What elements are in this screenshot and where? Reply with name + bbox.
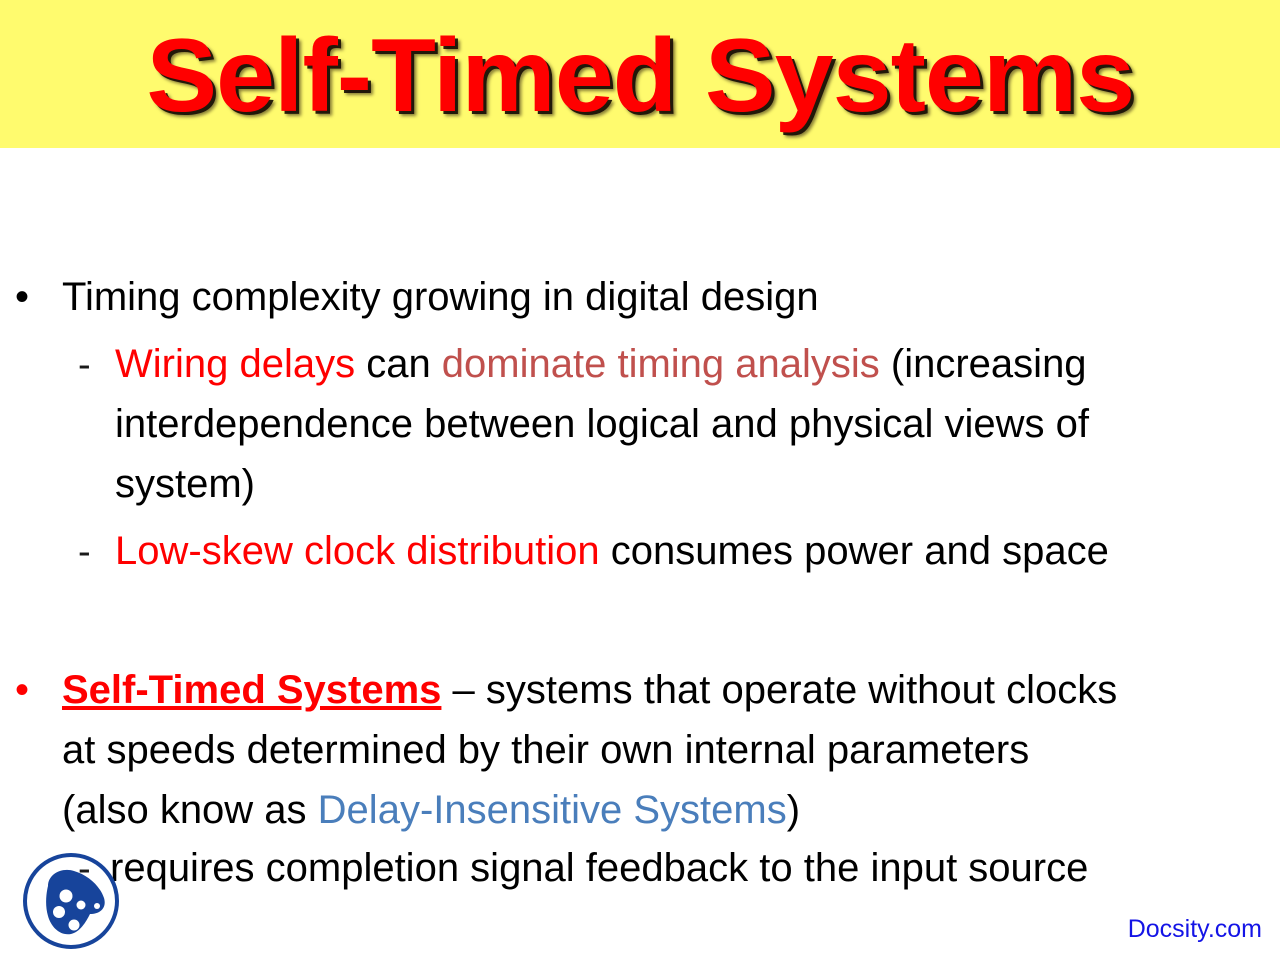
- bullet-2-line-1: Self-Timed Systems – systems that operat…: [62, 670, 1117, 710]
- slide-body: • Timing complexity growing in digital d…: [0, 148, 1280, 960]
- low-skew-clock-emphasis: Low-skew clock distribution: [115, 529, 600, 573]
- docsity-logo-icon: [18, 848, 124, 954]
- bullet-1-text: Timing complexity growing in digital des…: [62, 277, 819, 317]
- bullet-2-plain-1: – systems that operate without clocks: [441, 668, 1117, 712]
- bullet-1-sub-1-line-1: Wiring delays can dominate timing analys…: [115, 344, 1087, 384]
- sub-1-plain-1: can: [355, 342, 442, 386]
- bullet-2-line-2: at speeds determined by their own intern…: [62, 730, 1029, 770]
- docsity-watermark: Docsity.com: [1128, 915, 1262, 944]
- bullet-2-plain-3: ): [787, 788, 800, 832]
- sub-1-plain-2: (increasing: [880, 342, 1087, 386]
- self-timed-systems-emphasis: Self-Timed Systems: [62, 668, 441, 712]
- bullet-dot-icon: •: [15, 277, 29, 317]
- bullet-2-plain-2: (also know as: [62, 788, 318, 832]
- bullet-1-sub-1-line-3: system): [115, 464, 255, 504]
- dash-bullet-icon: -: [78, 533, 91, 571]
- title-banner: Self-Timed Systems: [0, 0, 1280, 148]
- bullet-1-sub-2: Low-skew clock distribution consumes pow…: [115, 531, 1109, 571]
- bullet-2-sub-1: requires completion signal feedback to t…: [110, 848, 1088, 888]
- dominate-timing-analysis-emphasis: dominate timing analysis: [442, 342, 880, 386]
- delay-insensitive-emphasis: Delay-Insensitive Systems: [318, 788, 787, 832]
- slide-title: Self-Timed Systems: [146, 24, 1134, 128]
- bullet-1-sub-1-line-2: interdependence between logical and phys…: [115, 404, 1089, 444]
- sub-2-plain: consumes power and space: [600, 529, 1109, 573]
- bullet-dot-icon: •: [15, 670, 29, 710]
- bullet-2-line-3: (also know as Delay-Insensitive Systems): [62, 790, 800, 830]
- wiring-delays-emphasis: Wiring delays: [115, 342, 355, 386]
- dash-bullet-icon: -: [78, 346, 91, 384]
